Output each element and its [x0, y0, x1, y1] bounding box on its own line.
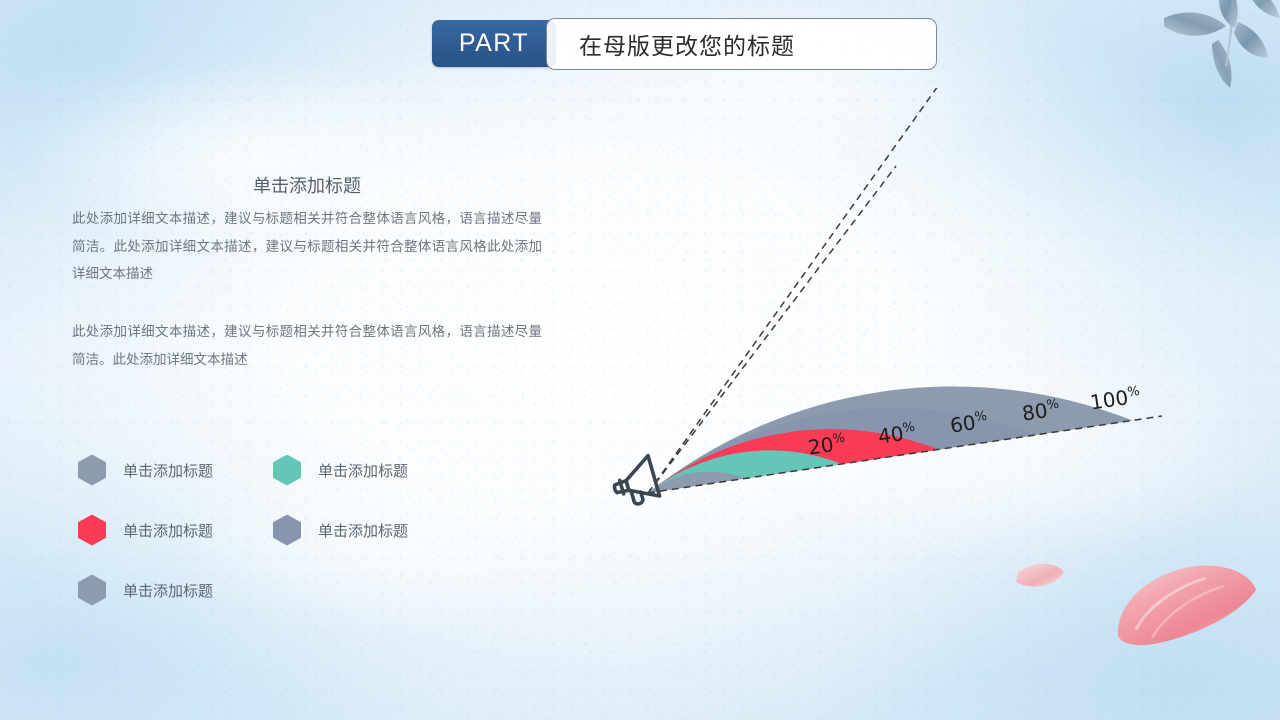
text-content-block: 单击添加标题 此处添加详细文本描述，建议与标题相关并符合整体语言风格，语言描述尽… — [72, 172, 542, 374]
legend-list: 单击添加标题 单击添加标题 单击添加标题 单击添加标题 单击添加标题 — [78, 440, 498, 620]
legend-row: 单击添加标题 — [78, 560, 498, 620]
legend-item-4[interactable]: 单击添加标题 — [273, 515, 468, 546]
petal-decoration — [1012, 544, 1262, 654]
legend-item-5[interactable]: 单击添加标题 — [78, 575, 273, 606]
content-paragraph-1: 此处添加详细文本描述，建议与标题相关并符合整体语言风格，语言描述尽量简洁。此处添… — [72, 206, 542, 289]
leaf-decoration — [1134, 0, 1280, 94]
hexagon-marker-icon — [273, 515, 301, 546]
hexagon-marker-icon — [78, 515, 106, 546]
part-badge[interactable]: PART — [432, 20, 556, 67]
legend-item-1[interactable]: 单击添加标题 — [78, 455, 273, 486]
slide-title: 在母版更改您的标题 — [579, 27, 795, 61]
slide-canvas: PART 在母版更改您的标题 单击添加标题 此处添加详细文本描述，建议与标题相关… — [0, 0, 1280, 720]
hexagon-marker-icon — [78, 575, 106, 606]
title-plate[interactable]: 在母版更改您的标题 — [546, 18, 937, 70]
slide-header: PART 在母版更改您的标题 — [432, 18, 937, 70]
legend-item-label: 单击添加标题 — [318, 520, 408, 541]
megaphone-fan-chart: 20% 40% 60% 80% 100% — [596, 88, 1180, 538]
legend-item-label: 单击添加标题 — [123, 580, 213, 601]
hexagon-marker-icon — [78, 455, 106, 486]
legend-item-label: 单击添加标题 — [123, 460, 213, 481]
part-badge-label: PART — [459, 29, 529, 58]
content-paragraph-2: 此处添加详细文本描述，建议与标题相关并符合整体语言风格，语言描述尽量简洁。此处添… — [72, 319, 542, 374]
legend-item-3[interactable]: 单击添加标题 — [78, 515, 273, 546]
content-section-title: 单击添加标题 — [72, 172, 542, 198]
legend-row: 单击添加标题 单击添加标题 — [78, 500, 498, 560]
legend-item-label: 单击添加标题 — [318, 460, 408, 481]
legend-item-2[interactable]: 单击添加标题 — [273, 455, 468, 486]
legend-row: 单击添加标题 单击添加标题 — [78, 440, 498, 500]
hexagon-marker-icon — [273, 455, 301, 486]
legend-item-label: 单击添加标题 — [123, 520, 213, 541]
megaphone-icon — [608, 456, 660, 509]
